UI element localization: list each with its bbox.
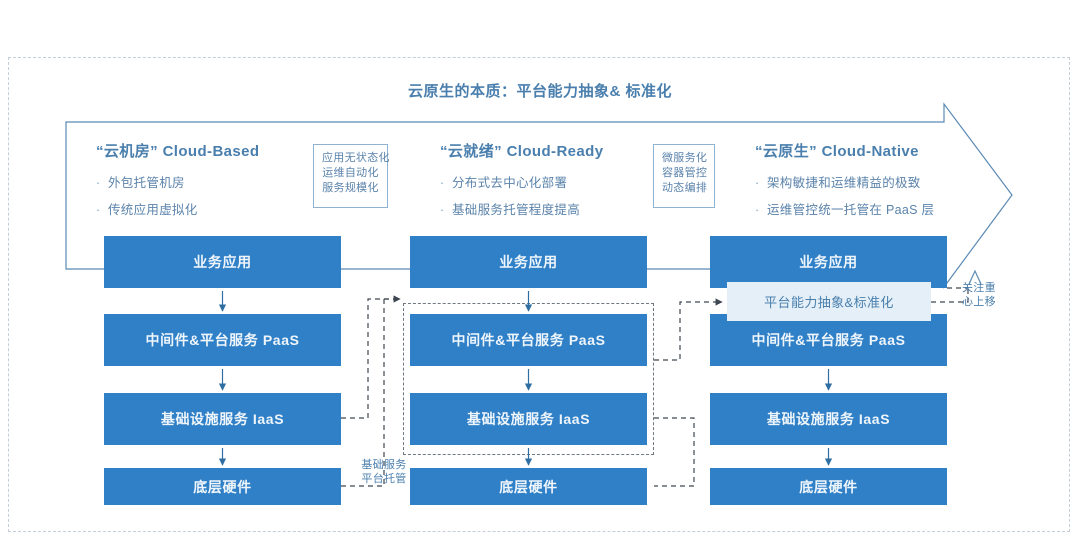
stack-box-col3-paas: 中间件&平台服务 PaaS [710, 314, 947, 366]
keyword-line: 微服务化 [662, 151, 706, 166]
stage-header-cloud-based: “云机房” Cloud-Based ·外包托管机房 ·传统应用虚拟化 [96, 140, 259, 226]
stage-header-cloud-native: “云原生” Cloud-Native ·架构敏捷和运维精益的极致 ·运维管控统一… [755, 140, 934, 226]
bullet-item: ·基础服务托管程度提高 [440, 199, 603, 218]
stack-box-col2-hardware: 底层硬件 [410, 468, 647, 505]
stage-title-cloud-based: “云机房” Cloud-Based [96, 140, 259, 161]
page-title: 云原生的本质：平台能力抽象& 标准化 [0, 80, 1080, 101]
stage-bullets-cloud-based: ·外包托管机房 ·传统应用虚拟化 [96, 172, 259, 218]
stage-bullets-cloud-ready: ·分布式去中心化部署 ·基础服务托管程度提高 [440, 172, 603, 218]
stack-box-col2-iaas: 基础设施服务 IaaS [410, 393, 647, 445]
bullet-item: ·传统应用虚拟化 [96, 199, 259, 218]
bullet-dot-icon: · [440, 203, 452, 217]
bullet-text: 传统应用虚拟化 [108, 203, 198, 217]
annotation-hosting-line2: 平台托管 [348, 472, 420, 486]
bullet-text: 架构敏捷和运维精益的极致 [767, 176, 921, 190]
bullet-text: 运维管控统一托管在 PaaS 层 [767, 203, 934, 217]
stack-box-col1-iaas: 基础设施服务 IaaS [104, 393, 341, 445]
bullet-dot-icon: · [96, 176, 108, 190]
stack-box-col3-iaas: 基础设施服务 IaaS [710, 393, 947, 445]
keyword-box-cloud-based-to-ready: 应用无状态化 运维自动化 服务规模化 [313, 144, 388, 208]
annotation-hosting-line1: 基础服务 [348, 458, 420, 472]
stack-box-col3-business-app: 业务应用 [710, 236, 947, 288]
stage-title-cloud-ready: “云就绪” Cloud-Ready [440, 140, 603, 161]
bullet-dot-icon: · [755, 176, 767, 190]
bullet-text: 外包托管机房 [108, 176, 185, 190]
stage-title-cloud-native: “云原生” Cloud-Native [755, 140, 934, 161]
diagram-canvas: 云原生的本质：平台能力抽象& 标准化 “云机房” Cloud-Based ·外包… [0, 0, 1080, 546]
stack-box-col3-hardware: 底层硬件 [710, 468, 947, 505]
keyword-line: 运维自动化 [322, 166, 379, 181]
stack-box-col1-paas: 中间件&平台服务 PaaS [104, 314, 341, 366]
stack-box-col1-hardware: 底层硬件 [104, 468, 341, 505]
keyword-line: 服务规模化 [322, 181, 379, 196]
bullet-text: 基础服务托管程度提高 [452, 203, 580, 217]
overlay-platform-abstraction: 平台能力抽象&标准化 [727, 282, 931, 321]
annotation-focus-shift-line2: 心上移 [962, 295, 1022, 309]
stack-box-col2-business-app: 业务应用 [410, 236, 647, 288]
keyword-line: 容器管控 [662, 166, 706, 181]
stage-header-cloud-ready: “云就绪” Cloud-Ready ·分布式去中心化部署 ·基础服务托管程度提高 [440, 140, 603, 226]
annotation-focus-shift-line1: 关注重 [962, 281, 1022, 295]
bullet-item: ·分布式去中心化部署 [440, 172, 603, 191]
bullet-text: 分布式去中心化部署 [452, 176, 567, 190]
stack-box-col1-business-app: 业务应用 [104, 236, 341, 288]
keyword-line: 动态编排 [662, 181, 706, 196]
bullet-item: ·架构敏捷和运维精益的极致 [755, 172, 934, 191]
keyword-line: 应用无状态化 [322, 151, 379, 166]
bullet-dot-icon: · [440, 176, 452, 190]
annotation-hosting: 基础服务 平台托管 [348, 458, 420, 486]
bullet-dot-icon: · [755, 203, 767, 217]
keyword-box-cloud-ready-to-native: 微服务化 容器管控 动态编排 [653, 144, 715, 208]
annotation-focus-shift: 关注重 心上移 [962, 281, 1022, 309]
bullet-item: ·外包托管机房 [96, 172, 259, 191]
stage-bullets-cloud-native: ·架构敏捷和运维精益的极致 ·运维管控统一托管在 PaaS 层 [755, 172, 934, 218]
stack-box-col2-paas: 中间件&平台服务 PaaS [410, 314, 647, 366]
bullet-item: ·运维管控统一托管在 PaaS 层 [755, 199, 934, 218]
bullet-dot-icon: · [96, 203, 108, 217]
